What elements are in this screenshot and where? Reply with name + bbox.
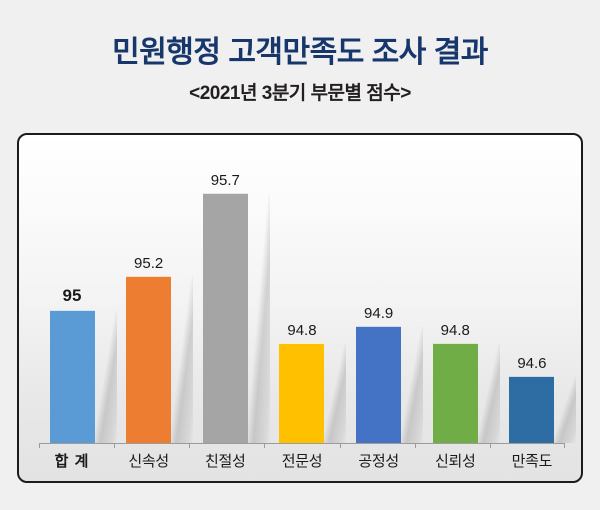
- bar-group: 9595.295.794.894.994.894.6: [39, 143, 565, 443]
- x-axis-category-label: 신속성: [116, 450, 182, 471]
- x-axis-category-label: 전문성: [269, 450, 335, 471]
- bar: [356, 326, 401, 443]
- bar-slot: 94.8: [422, 143, 488, 443]
- bar: [50, 310, 95, 443]
- bar-value-label: 94.8: [422, 322, 488, 339]
- bar-value-label: 94.9: [346, 305, 412, 322]
- plot-area: 9595.295.794.894.994.894.6: [39, 143, 565, 443]
- bar-value-label: 95.7: [192, 172, 258, 189]
- x-axis-category-label: 공정성: [346, 450, 412, 471]
- bar-slot: 95.2: [116, 143, 182, 443]
- x-axis-category-label: 친절성: [192, 450, 258, 471]
- chart-header: 민원행정 고객만족도 조사 결과 <2021년 3분기 부문별 점수>: [0, 0, 600, 125]
- bar-slot: 95.7: [192, 143, 258, 443]
- x-axis-tick: [340, 443, 341, 448]
- bar-slot: 94.9: [346, 143, 412, 443]
- bar: [203, 193, 248, 443]
- bar-value-label: 94.6: [499, 355, 565, 372]
- bar: [509, 376, 554, 443]
- x-axis-tick: [564, 443, 565, 448]
- x-axis-tick: [39, 443, 40, 448]
- bar-slot: 94.6: [499, 143, 565, 443]
- x-axis-tick: [490, 443, 491, 448]
- x-axis-tick: [114, 443, 115, 448]
- bar-value-label: 95: [39, 286, 105, 306]
- bar: [279, 343, 324, 443]
- x-axis-category-label: 합 계: [39, 450, 105, 471]
- x-axis-category-label: 만족도: [499, 450, 565, 471]
- bar: [433, 343, 478, 443]
- x-axis-ticks: [39, 443, 565, 449]
- x-axis-tick: [189, 443, 190, 448]
- x-axis-tick: [415, 443, 416, 448]
- x-axis-tick: [264, 443, 265, 448]
- x-axis-category-label: 신뢰성: [422, 450, 488, 471]
- bar-value-label: 95.2: [116, 255, 182, 272]
- page-subtitle: <2021년 3분기 부문별 점수>: [0, 70, 600, 105]
- x-axis-category-labels: 합 계신속성친절성전문성공정성신뢰성만족도: [39, 450, 565, 471]
- bar-value-label: 94.8: [269, 322, 335, 339]
- page-title: 민원행정 고객만족도 조사 결과: [0, 0, 600, 70]
- bar: [126, 276, 171, 443]
- bar-slot: 95: [39, 143, 105, 443]
- bar-slot: 94.8: [269, 143, 335, 443]
- chart-panel: 9595.295.794.894.994.894.6 합 계신속성친절성전문성공…: [17, 133, 583, 483]
